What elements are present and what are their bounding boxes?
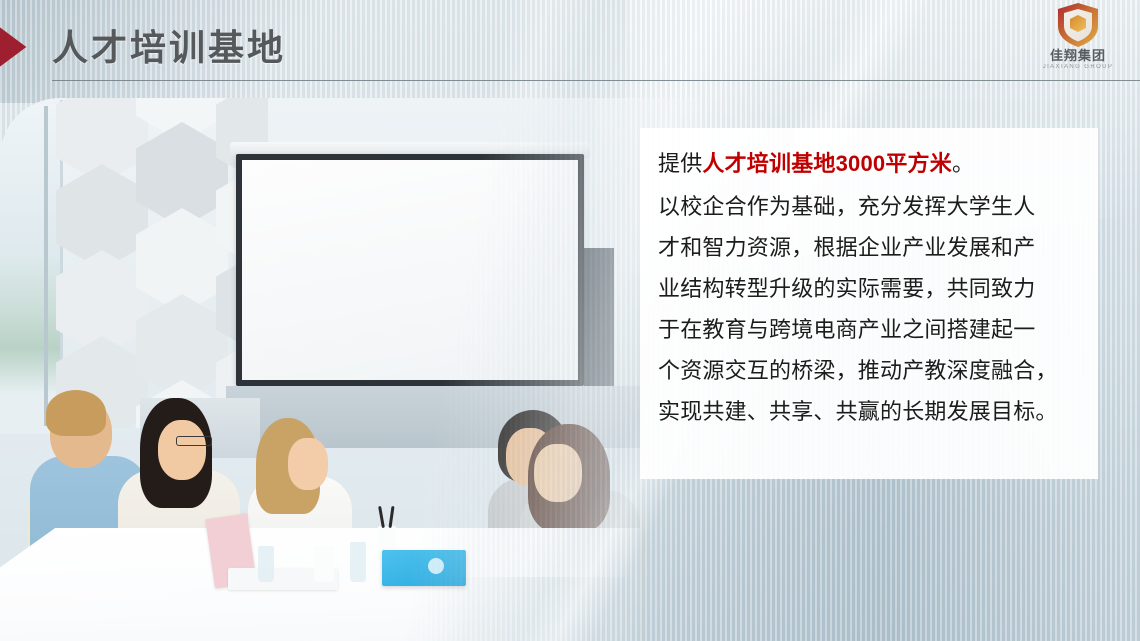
blue-binder — [382, 550, 466, 586]
pens — [388, 506, 394, 528]
binder-label — [428, 558, 444, 574]
body-line: 个资源交互的桥梁，推动产教深度融合， — [658, 350, 1084, 391]
description-panel: 提供人才培训基地3000平方米。 以校企合作为基础，充分发挥大学生人 才和智力资… — [640, 128, 1098, 479]
person-face — [158, 420, 206, 480]
projection-screen — [236, 154, 584, 386]
company-logo: 佳翔集团 JIAXIANG GROUP — [1030, 2, 1126, 76]
logo-name-en: JIAXIANG GROUP — [1030, 63, 1126, 71]
person-hair — [46, 390, 106, 436]
body-line: 于在教育与跨境电商产业之间搭建起一 — [658, 309, 1084, 350]
slide-canvas: 人才培训基地 — [0, 0, 1140, 641]
person-face — [288, 438, 328, 490]
page-title: 人才培训基地 — [52, 24, 286, 72]
slide-header: 人才培训基地 — [0, 0, 1140, 95]
water-glass — [258, 546, 274, 582]
red-arrow-icon — [0, 17, 42, 77]
body-line: 以校企合作为基础，充分发挥大学生人 — [658, 186, 1084, 227]
water-glass — [350, 542, 366, 582]
dark-wall-column — [584, 248, 614, 408]
pen-cup — [314, 546, 334, 582]
header-divider — [52, 80, 1140, 81]
person-face — [534, 444, 582, 502]
body-line: 实现共建、共享、共赢的长期发展目标。 — [658, 391, 1084, 432]
logo-name-cn: 佳翔集团 — [1030, 49, 1126, 63]
shield-emblem-icon — [1030, 2, 1126, 48]
lead-prefix: 提供 — [658, 151, 702, 176]
lead-line: 提供人才培训基地3000平方米。 — [658, 142, 1084, 186]
pens — [378, 506, 385, 528]
photo-image — [0, 98, 700, 641]
lead-highlight: 人才培训基地3000平方米 — [702, 151, 952, 176]
body-line: 业结构转型升级的实际需要，共同致力 — [658, 268, 1084, 309]
eyeglasses — [176, 436, 212, 446]
lead-suffix: 。 — [952, 151, 974, 176]
body-line: 才和智力资源，根据企业产业发展和产 — [658, 227, 1084, 268]
meeting-room-photo — [0, 98, 700, 641]
